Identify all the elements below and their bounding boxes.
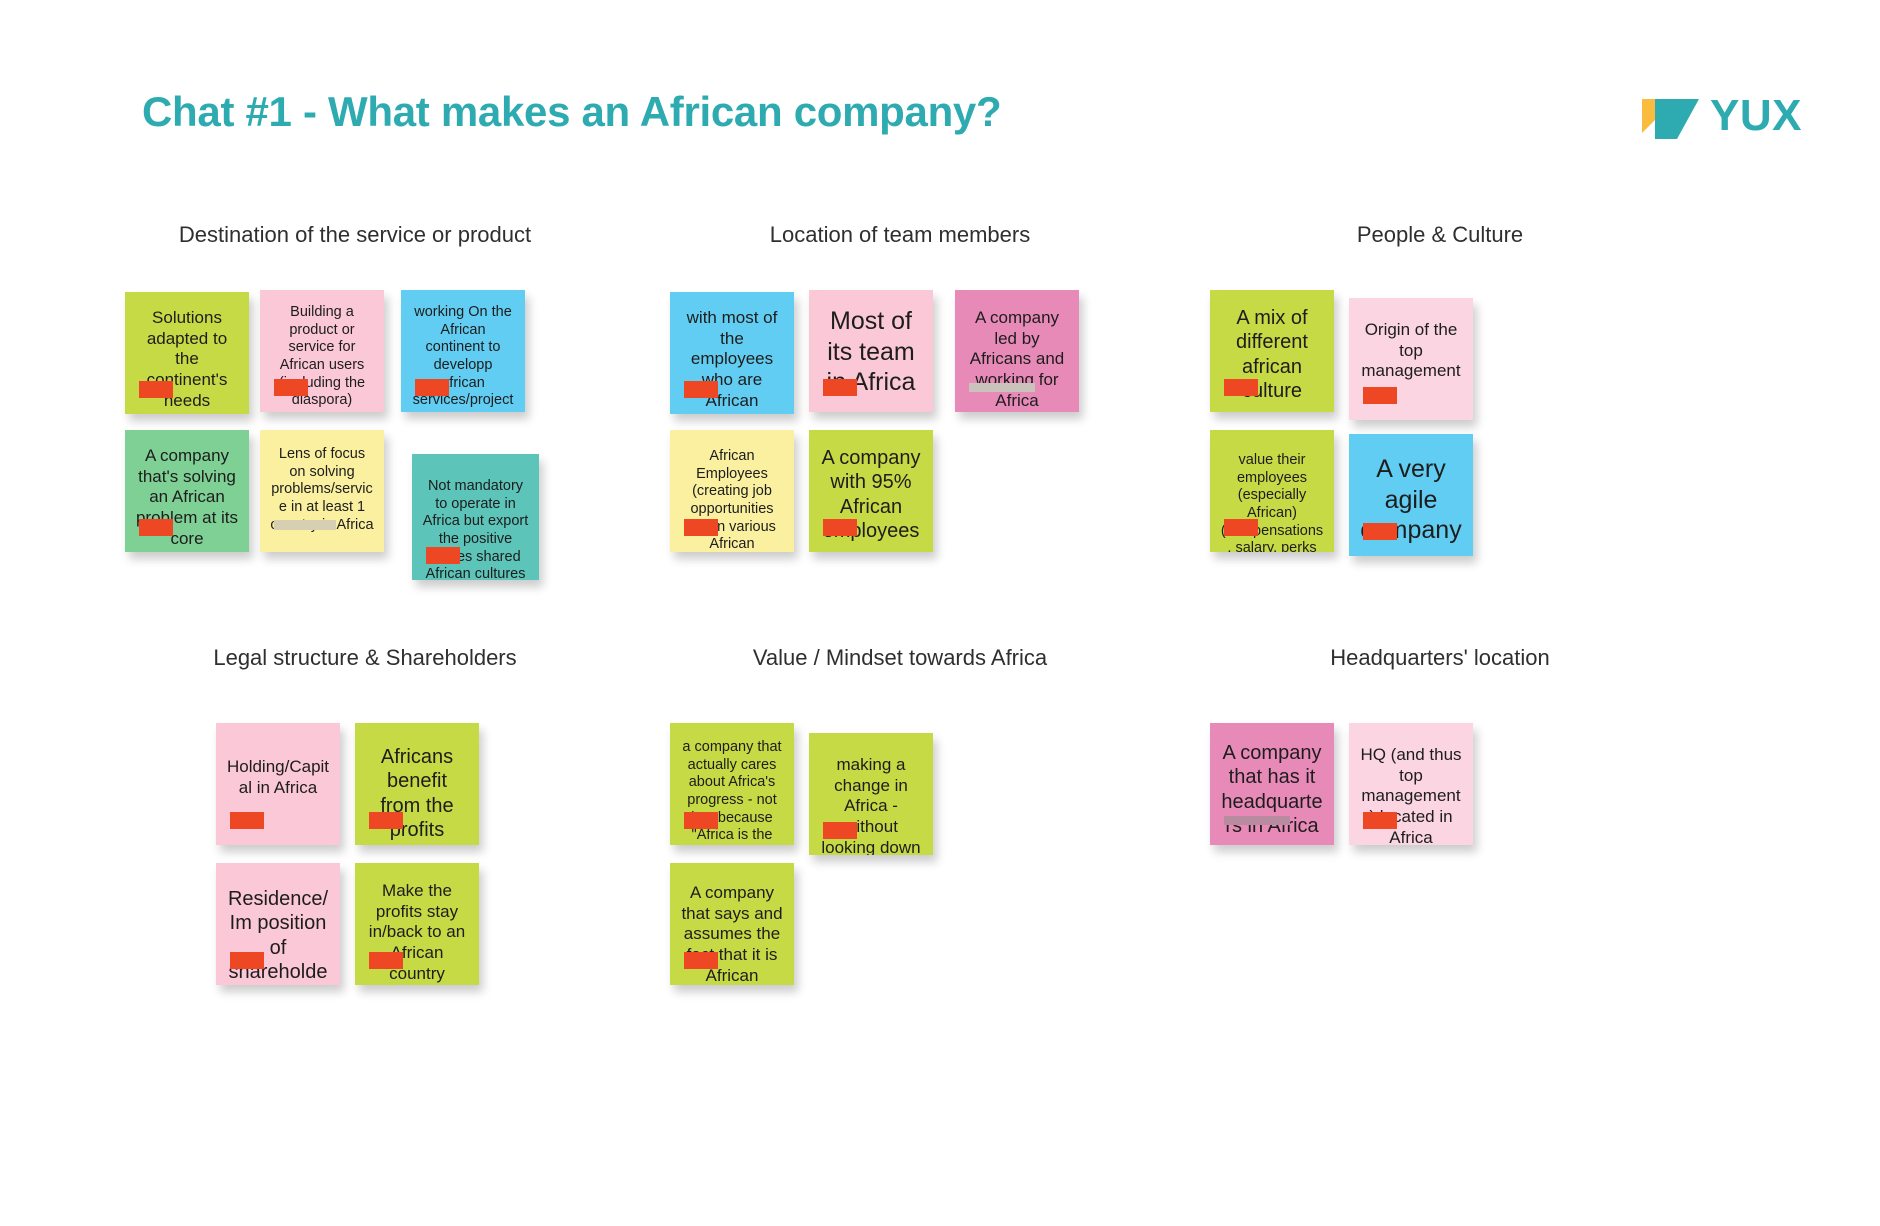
note-group: Location of team memberswith most of the… — [665, 222, 1135, 582]
sticky-note-vote-badge[interactable] — [139, 519, 173, 536]
sticky-note-vote-badge[interactable] — [684, 812, 718, 829]
sticky-note[interactable]: A company that has it headquarters in Af… — [1210, 723, 1334, 845]
sticky-note[interactable]: Residence/Im position of shareholders — [216, 863, 340, 985]
note-group: Legal structure & ShareholdersHolding/Ca… — [130, 645, 600, 1005]
sticky-note[interactable]: A company with 95% African employees — [809, 430, 933, 552]
sticky-note[interactable]: A company that says and assumes the fact… — [670, 863, 794, 985]
sticky-note-vote-badge[interactable] — [369, 812, 403, 829]
note-group: Value / Mindset towards Africaa company … — [665, 645, 1135, 1005]
sticky-note[interactable]: A very agile company — [1349, 434, 1473, 556]
group-title: Headquarters' location — [1205, 645, 1675, 671]
sticky-note-vote-badge[interactable] — [684, 381, 718, 398]
group-title: Value / Mindset towards Africa — [665, 645, 1135, 671]
group-title: Destination of the service or product — [120, 222, 590, 248]
note-list: with most of the employees who are Afric… — [665, 262, 1135, 622]
note-group: Headquarters' locationA company that has… — [1205, 645, 1675, 1005]
group-title: Location of team members — [665, 222, 1135, 248]
sticky-note-vote-badge[interactable] — [823, 822, 857, 839]
sticky-note-vote-badge[interactable] — [969, 383, 1035, 392]
sticky-note[interactable]: A mix of different african culture — [1210, 290, 1334, 412]
note-group: Destination of the service or productSol… — [120, 222, 590, 582]
sticky-note[interactable]: Lens of focus on solving problems/servic… — [260, 430, 384, 552]
sticky-note-text: Not mandatory to operate in Africa but e… — [422, 478, 529, 580]
sticky-note-vote-badge[interactable] — [1363, 523, 1397, 540]
sticky-note-vote-badge[interactable] — [230, 812, 264, 829]
sticky-note[interactable]: with most of the employees who are Afric… — [670, 292, 794, 414]
sticky-note-vote-badge[interactable] — [426, 547, 460, 564]
sticky-note-text: Residence/Im position of shareholders — [226, 887, 330, 985]
sticky-note-vote-badge[interactable] — [139, 381, 173, 398]
group-title: Legal structure & Shareholders — [130, 645, 600, 671]
sticky-note-text: HQ (and thus top management) located in … — [1359, 745, 1463, 845]
sticky-note[interactable]: a company that actually cares about Afri… — [670, 723, 794, 845]
sticky-note[interactable]: Most of its team in Africa — [809, 290, 933, 412]
note-group: People & CultureA mix of different afric… — [1205, 222, 1675, 582]
sticky-note-text: making a change in Africa - without look… — [819, 755, 923, 855]
sticky-note[interactable]: A company that's solving an African prob… — [125, 430, 249, 552]
note-list: Solutions adapted to the continent's nee… — [120, 262, 590, 622]
sticky-note[interactable]: Solutions adapted to the continent's nee… — [125, 292, 249, 414]
sticky-note[interactable]: working On the African continent to deve… — [401, 290, 525, 412]
note-list: a company that actually cares about Afri… — [665, 685, 1135, 1045]
sticky-note-vote-badge[interactable] — [823, 379, 857, 396]
sticky-note-vote-badge[interactable] — [1363, 812, 1397, 829]
sticky-note-vote-badge[interactable] — [1224, 519, 1258, 536]
group-title: People & Culture — [1205, 222, 1675, 248]
sticky-note[interactable]: Holding/Capital in Africa — [216, 723, 340, 845]
sticky-note[interactable]: A company led by Africans and working fo… — [955, 290, 1079, 412]
sticky-note-text: African Employees (creating job opportun… — [680, 448, 784, 552]
sticky-note-text: value their employees (especially Africa… — [1220, 452, 1324, 552]
sticky-note-board: Destination of the service or productSol… — [0, 0, 1880, 1226]
sticky-note-text: A company led by Africans and working fo… — [965, 308, 1069, 412]
sticky-note-vote-badge[interactable] — [369, 952, 403, 969]
sticky-note[interactable]: Building a product or service for Africa… — [260, 290, 384, 412]
sticky-note-vote-badge[interactable] — [415, 379, 449, 396]
sticky-note-vote-badge[interactable] — [1363, 387, 1397, 404]
sticky-note-vote-badge[interactable] — [1224, 816, 1290, 825]
sticky-note-vote-badge[interactable] — [684, 519, 718, 536]
sticky-note[interactable]: value their employees (especially Africa… — [1210, 430, 1334, 552]
sticky-note-vote-badge[interactable] — [230, 952, 264, 969]
sticky-note-text: Holding/Capital in Africa — [226, 757, 330, 798]
sticky-note-vote-badge[interactable] — [823, 519, 857, 536]
sticky-note-vote-badge[interactable] — [684, 952, 718, 969]
sticky-note-vote-badge[interactable] — [274, 520, 336, 530]
sticky-note[interactable]: Make the profits stay in/back to an Afri… — [355, 863, 479, 985]
sticky-note[interactable]: making a change in Africa - without look… — [809, 733, 933, 855]
sticky-note[interactable]: HQ (and thus top management) located in … — [1349, 723, 1473, 845]
sticky-note-text: Origin of the top management — [1359, 320, 1463, 382]
note-list: A company that has it headquarters in Af… — [1205, 685, 1675, 1045]
sticky-note-vote-badge[interactable] — [274, 379, 308, 396]
note-list: Holding/Capital in AfricaAfricans benefi… — [130, 685, 600, 1045]
sticky-note[interactable]: Origin of the top management — [1349, 298, 1473, 420]
sticky-note[interactable]: African Employees (creating job opportun… — [670, 430, 794, 552]
sticky-note[interactable]: Not mandatory to operate in Africa but e… — [412, 454, 539, 580]
sticky-note-text: a company that actually cares about Afri… — [680, 739, 784, 845]
sticky-note-text: Make the profits stay in/back to an Afri… — [365, 881, 469, 985]
sticky-note[interactable]: Africans benefit from the profits — [355, 723, 479, 845]
note-list: A mix of different african cultureOrigin… — [1205, 262, 1675, 622]
sticky-note-vote-badge[interactable] — [1224, 379, 1258, 396]
sticky-note-text: A company that says and assumes the fact… — [680, 883, 784, 985]
